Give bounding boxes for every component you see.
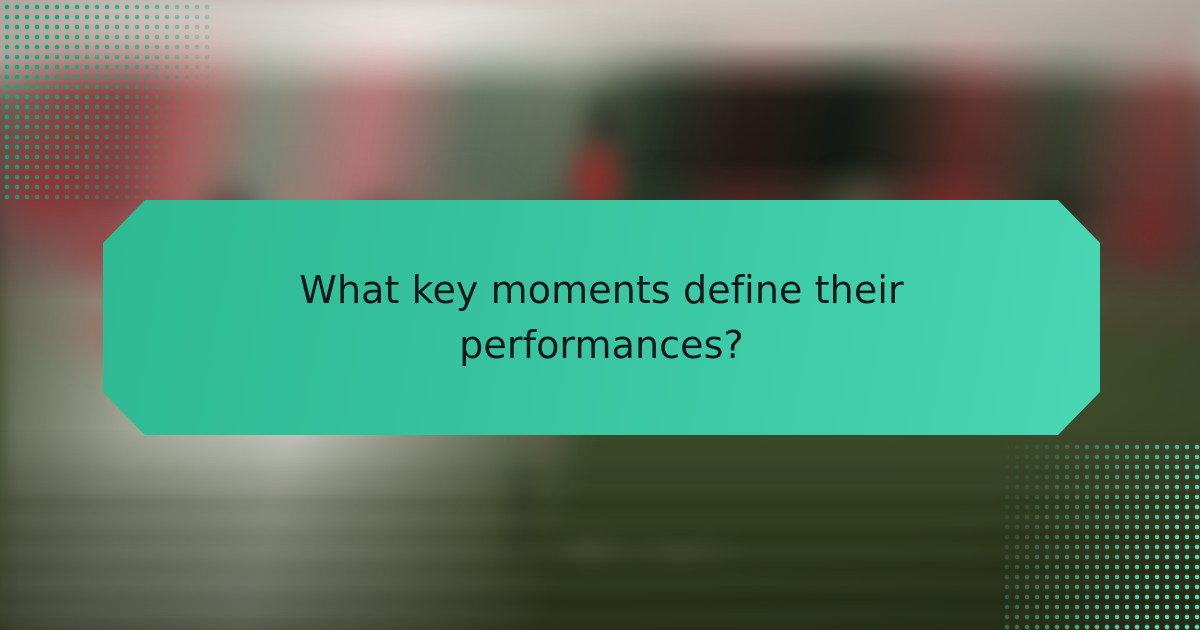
quote-text: What key moments define their performanc… <box>292 263 912 373</box>
quote-card: What key moments define their performanc… <box>103 200 1100 435</box>
dot-grid-decoration-bottom-right <box>1000 440 1200 630</box>
dot-grid-decoration-top-left <box>0 0 210 200</box>
social-quote-card-image: What key moments define their performanc… <box>0 0 1200 630</box>
